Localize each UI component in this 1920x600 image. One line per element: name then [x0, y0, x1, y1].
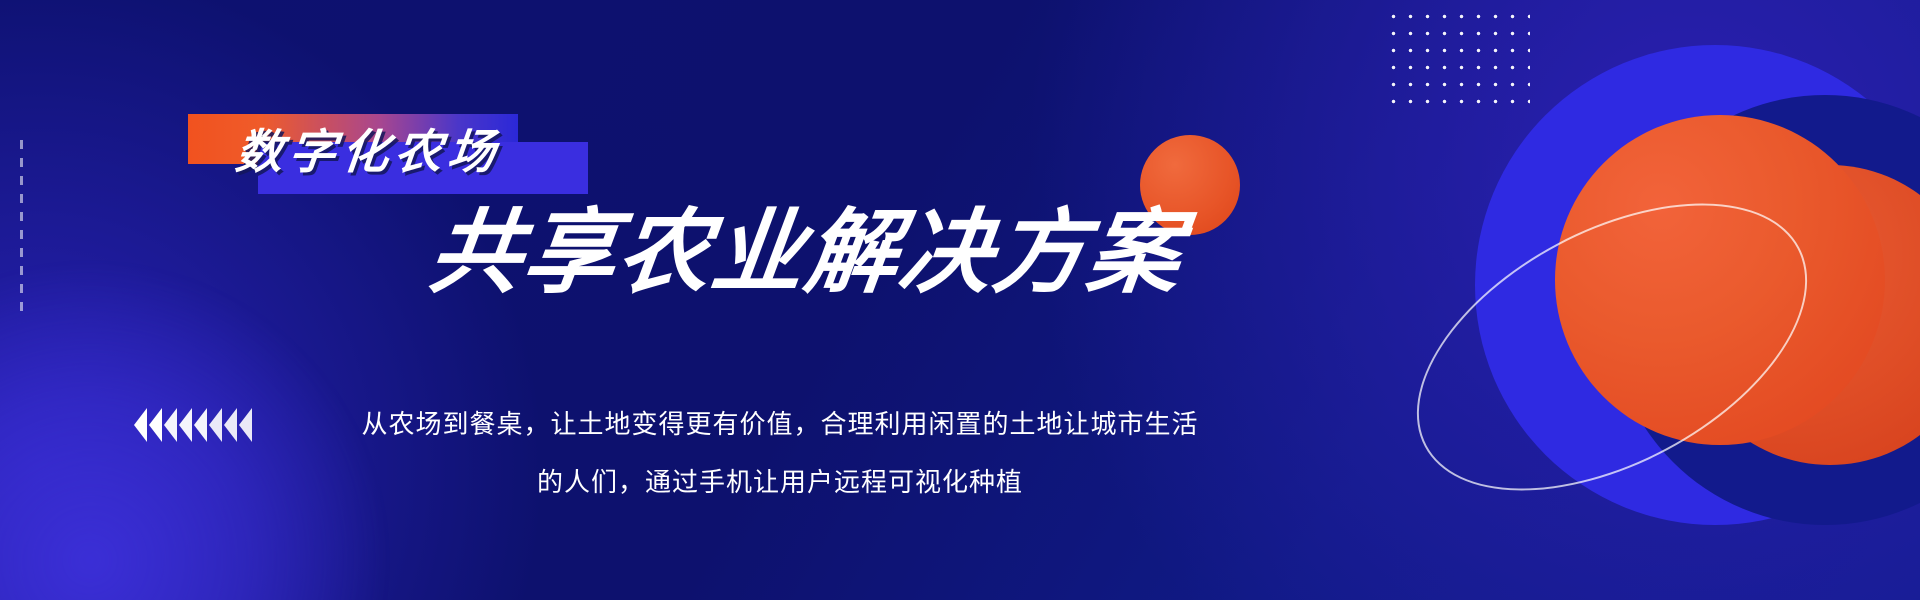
page-title: 共享农业解决方案 — [424, 205, 1188, 302]
subtitle-line-1: 从农场到餐桌，让土地变得更有价值，合理利用闲置的土地让城市生活 — [0, 395, 1560, 453]
promo-banner: 数字化农场 共享农业解决方案 从农场到餐桌，让土地变得更有价值，合理利用闲置的土… — [0, 0, 1920, 600]
tag-label: 数字化农场 — [234, 128, 599, 175]
subtitle-line-2: 的人们，通过手机让用户远程可视化种植 — [0, 453, 1560, 511]
subtitle: 从农场到餐桌，让土地变得更有价值，合理利用闲置的土地让城市生活 的人们，通过手机… — [0, 395, 1560, 511]
banner-content: 数字化农场 共享农业解决方案 从农场到餐桌，让土地变得更有价值，合理利用闲置的土… — [0, 0, 1920, 600]
category-tag: 数字化农场 — [188, 114, 588, 194]
